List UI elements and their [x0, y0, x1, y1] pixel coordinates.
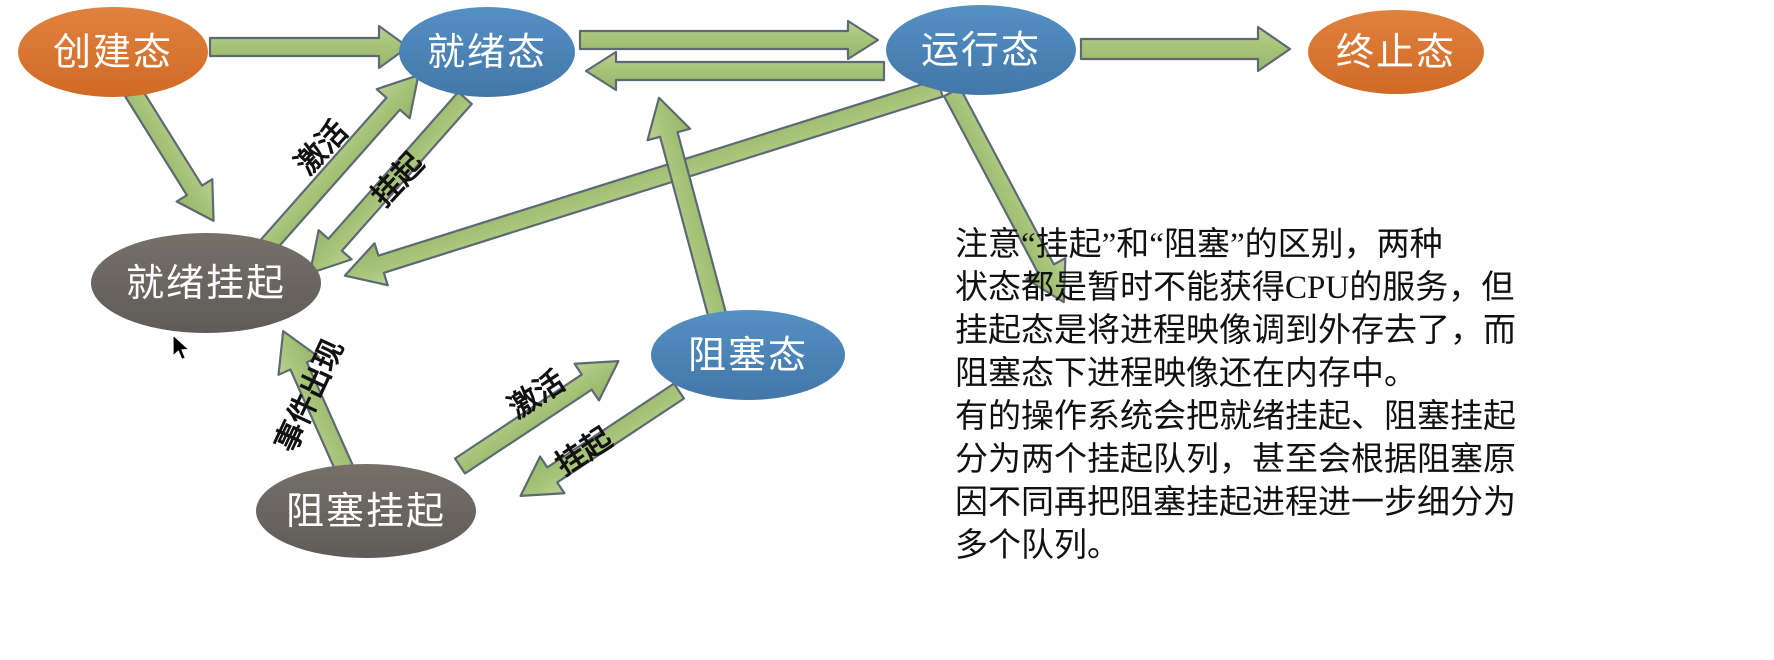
node-created-label: 创建态	[53, 32, 173, 74]
node-terminated-label: 终止态	[1336, 32, 1456, 74]
node-created[interactable]: 创建态	[18, 7, 208, 97]
edge-created-to-ready	[210, 26, 408, 68]
edge-running-to-ready-suspend	[338, 67, 946, 297]
node-ready-suspend[interactable]: 就绪挂起	[91, 233, 321, 333]
node-terminated[interactable]: 终止态	[1308, 10, 1484, 94]
node-blocked-suspend[interactable]: 阻塞挂起	[256, 464, 476, 558]
node-blocked[interactable]: 阻塞态	[651, 310, 845, 400]
edge-created-to-ready-suspend	[115, 81, 231, 232]
edge-running-to-terminated	[1081, 27, 1290, 71]
node-ready[interactable]: 就绪态	[399, 7, 575, 97]
explanation-note: 注意“挂起”和“阻塞”的区别，两种 状态都是暂时不能获得CPU的服务，但 挂起态…	[955, 224, 1516, 568]
node-running-label: 运行态	[921, 30, 1041, 72]
edge-running-to-ready	[586, 52, 884, 90]
node-ready-suspend-label: 就绪挂起	[126, 263, 286, 305]
diagram-canvas: 创建态 就绪态 运行态 终止态 就绪挂起 阻塞态	[0, 0, 1774, 660]
node-running[interactable]: 运行态	[886, 5, 1076, 95]
node-blocked-label: 阻塞态	[688, 335, 808, 377]
node-ready-label: 就绪态	[427, 32, 547, 74]
edge-blocked-to-ready	[638, 92, 740, 324]
edge-ready-to-running	[580, 21, 878, 59]
node-blocked-suspend-label: 阻塞挂起	[286, 491, 446, 533]
